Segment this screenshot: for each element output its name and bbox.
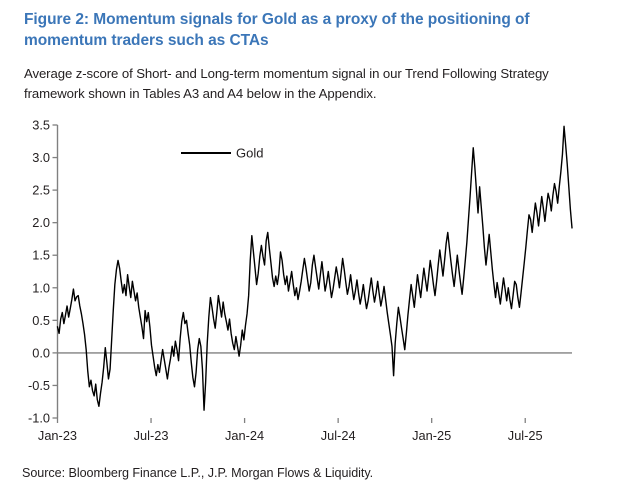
y-axis-tick-label: 2.0 (32, 215, 50, 230)
y-axis-tick-label: 0.0 (32, 345, 50, 360)
y-axis-tick-label: 1.0 (32, 280, 50, 295)
line-chart: -1.0-0.50.00.51.01.52.02.53.03.5 Jan-23J… (0, 108, 636, 453)
x-axis-tick-label: Jul-24 (321, 428, 356, 443)
y-axis-tick-marks (53, 125, 58, 418)
x-axis-tick-marks (58, 418, 526, 423)
x-axis-tick-label: Jul-25 (508, 428, 543, 443)
data-series-gold (58, 126, 573, 410)
y-axis-tick-label: 2.5 (32, 183, 50, 198)
y-axis-tick-label: 0.5 (32, 313, 50, 328)
chart-plot-area: -1.0-0.50.00.51.01.52.02.53.03.5 Jan-23J… (0, 108, 636, 453)
legend-label-gold: Gold (236, 146, 263, 161)
figure-subtitle: Average z-score of Short- and Long-term … (24, 64, 609, 104)
x-axis-tick-label: Jan-25 (412, 428, 451, 443)
source-note: Source: Bloomberg Finance L.P., J.P. Mor… (22, 466, 373, 480)
y-axis-tick-label: 1.5 (32, 248, 50, 263)
x-axis-tick-label: Jul-23 (134, 428, 169, 443)
y-axis-tick-labels: -1.0-0.50.00.51.01.52.02.53.03.5 (28, 118, 50, 426)
figure-container: Figure 2: Momentum signals for Gold as a… (0, 0, 636, 493)
y-axis-tick-label: -0.5 (28, 378, 50, 393)
x-axis-tick-label: Jan-24 (225, 428, 264, 443)
x-axis-tick-label: Jan-23 (38, 428, 77, 443)
y-axis-tick-label: 3.0 (32, 150, 50, 165)
y-axis-tick-label: 3.5 (32, 118, 50, 133)
x-axis-tick-labels: Jan-23Jul-23Jan-24Jul-24Jan-25Jul-25 (38, 428, 543, 443)
figure-title: Figure 2: Momentum signals for Gold as a… (24, 10, 614, 51)
y-axis-tick-label: -1.0 (28, 411, 50, 426)
